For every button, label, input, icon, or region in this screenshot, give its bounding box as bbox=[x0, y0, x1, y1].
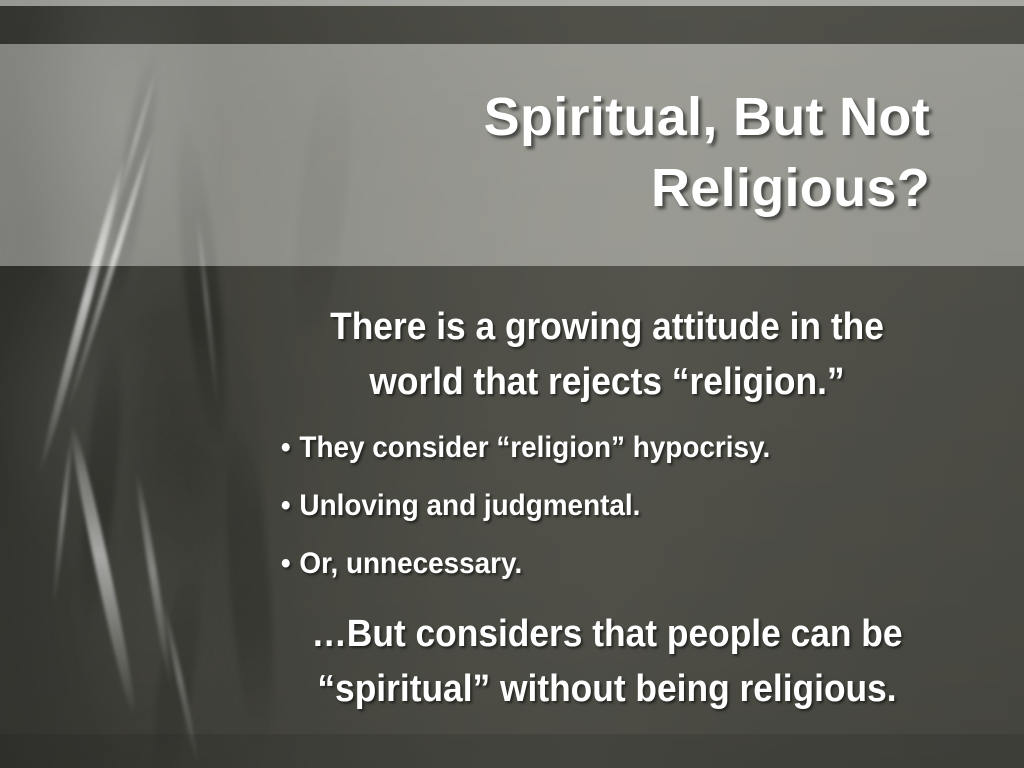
slide-title: Spiritual, But Not Religious? bbox=[330, 82, 930, 225]
slide-title-line-1: Spiritual, But Not bbox=[330, 82, 930, 153]
lead-paragraph: There is a growing attitude in the world… bbox=[240, 300, 975, 409]
list-item: • They consider “religion” hypocrisy. bbox=[212, 419, 947, 477]
closing-line-2: “spiritual” without being religious. bbox=[240, 662, 975, 717]
list-item: • Or, unnecessary. bbox=[212, 535, 947, 593]
slide-body: There is a growing attitude in the world… bbox=[212, 300, 1002, 717]
bullet-list: • They consider “religion” hypocrisy. • … bbox=[212, 419, 1002, 593]
list-item-label: Or, unnecessary. bbox=[299, 547, 522, 580]
bullet-icon: • bbox=[281, 535, 291, 593]
closing-paragraph: …But considers that people can be “spiri… bbox=[240, 607, 975, 716]
presentation-slide: Spiritual, But Not Religious? There is a… bbox=[0, 0, 1024, 768]
slide-title-line-2: Religious? bbox=[330, 153, 930, 224]
top-dark-band bbox=[0, 6, 1024, 44]
list-item-label: They consider “religion” hypocrisy. bbox=[299, 431, 770, 464]
lead-line-2: world that rejects “religion.” bbox=[240, 355, 975, 410]
list-item-label: Unloving and judgmental. bbox=[299, 489, 640, 522]
bullet-icon: • bbox=[281, 419, 291, 477]
bullet-icon: • bbox=[281, 477, 291, 535]
lead-line-1: There is a growing attitude in the bbox=[240, 300, 975, 355]
closing-line-1: …But considers that people can be bbox=[240, 607, 975, 662]
bottom-dark-band bbox=[0, 734, 1024, 768]
list-item: • Unloving and judgmental. bbox=[212, 477, 947, 535]
